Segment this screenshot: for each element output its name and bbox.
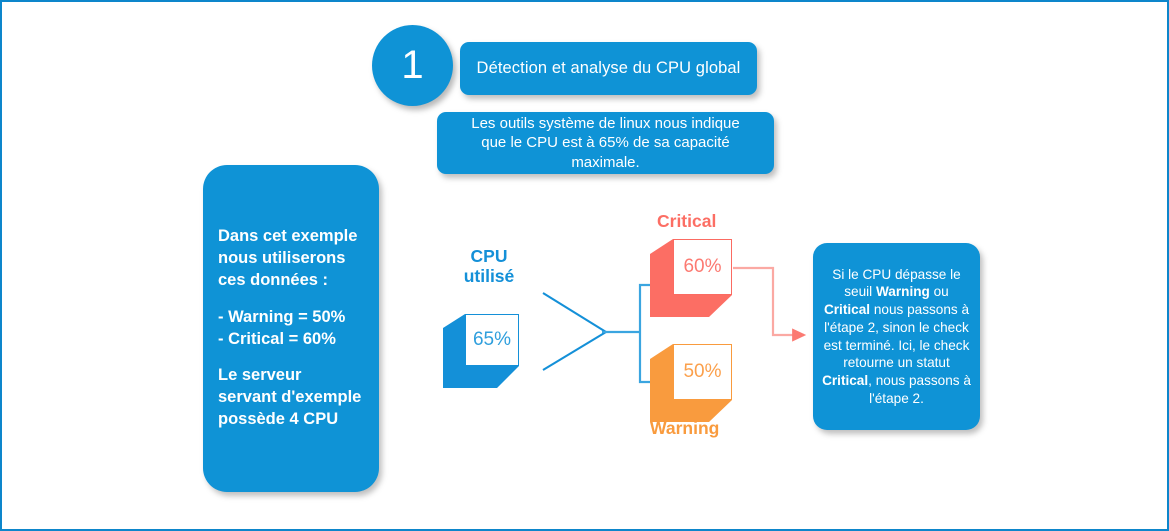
threshold-dash-warning: - [218,308,228,326]
cpu-label-line-1: CPU [454,246,524,266]
fan-line-upper [543,293,606,332]
server-line-1: Le serveur [218,365,361,387]
critical-label: Critical [657,211,716,232]
threshold-value-warning: 50% [312,308,345,326]
server-line-3: possède 4 CPU [218,409,361,431]
header-banner: Détection et analyse du CPU global [460,42,757,95]
warning-cube-face: 50% [673,344,732,400]
left-data-panel: Dans cet exemple nous utiliserons ces do… [203,165,379,492]
warning-threshold-cube: 50% [650,344,732,422]
arrow-critical-to-conclusion [733,268,804,335]
cpu-label: CPU utilisé [454,246,524,287]
diagram-canvas: 1 Détection et analyse du CPU global Les… [0,0,1169,531]
spacer [218,292,361,307]
conclusion-panel: Si le CPU dépasse le seuil Warning ou Cr… [813,243,980,430]
conclusion-critical-keyword-2: Critical [822,373,868,388]
threshold-equals-warning: = [293,308,312,326]
threshold-row-critical: - Critical = 60% [218,329,361,351]
threshold-dash-critical: - [218,330,228,348]
sub-note-line-3: maximale. [447,153,764,172]
warning-label: Warning [650,418,719,439]
left-panel-intro-3: ces données : [218,270,361,292]
threshold-equals-critical: = [284,330,303,348]
warning-value: 50% [683,361,721,383]
header-title: Détection et analyse du CPU global [477,59,741,78]
cpu-usage-cube: 65% [443,314,519,388]
cpu-value: 65% [473,329,511,351]
left-panel-intro-2: nous utiliserons [218,248,361,270]
sub-note-box: Les outils système de linux nous indique… [437,112,774,174]
conclusion-critical-keyword: Critical [824,302,870,317]
server-line-2: servant d'exemple [218,387,361,409]
cpu-cube-face: 65% [465,314,519,366]
threshold-name-critical: Critical [228,330,284,348]
critical-cube-face: 60% [673,239,732,295]
sub-note-line-1: Les outils système de linux nous indique [447,114,764,133]
step-number-circle: 1 [372,25,453,106]
spacer [218,350,361,365]
threshold-value-critical: 60% [303,330,336,348]
sub-note-line-2: que le CPU est à 65% de sa capacité [447,133,764,152]
threshold-name-warning: Warning [228,308,293,326]
left-panel-intro-1: Dans cet exemple [218,226,361,248]
critical-value: 60% [683,256,721,278]
step-number-label: 1 [401,43,423,88]
threshold-row-warning: - Warning = 50% [218,307,361,329]
cpu-label-line-2: utilisé [454,266,524,286]
conclusion-seg-3: ou [930,284,949,299]
critical-threshold-cube: 60% [650,239,732,317]
conclusion-seg-7: , nous passons à l'étape 2. [868,373,971,406]
fan-line-lower [543,332,606,370]
conclusion-warning-keyword: Warning [876,284,930,299]
